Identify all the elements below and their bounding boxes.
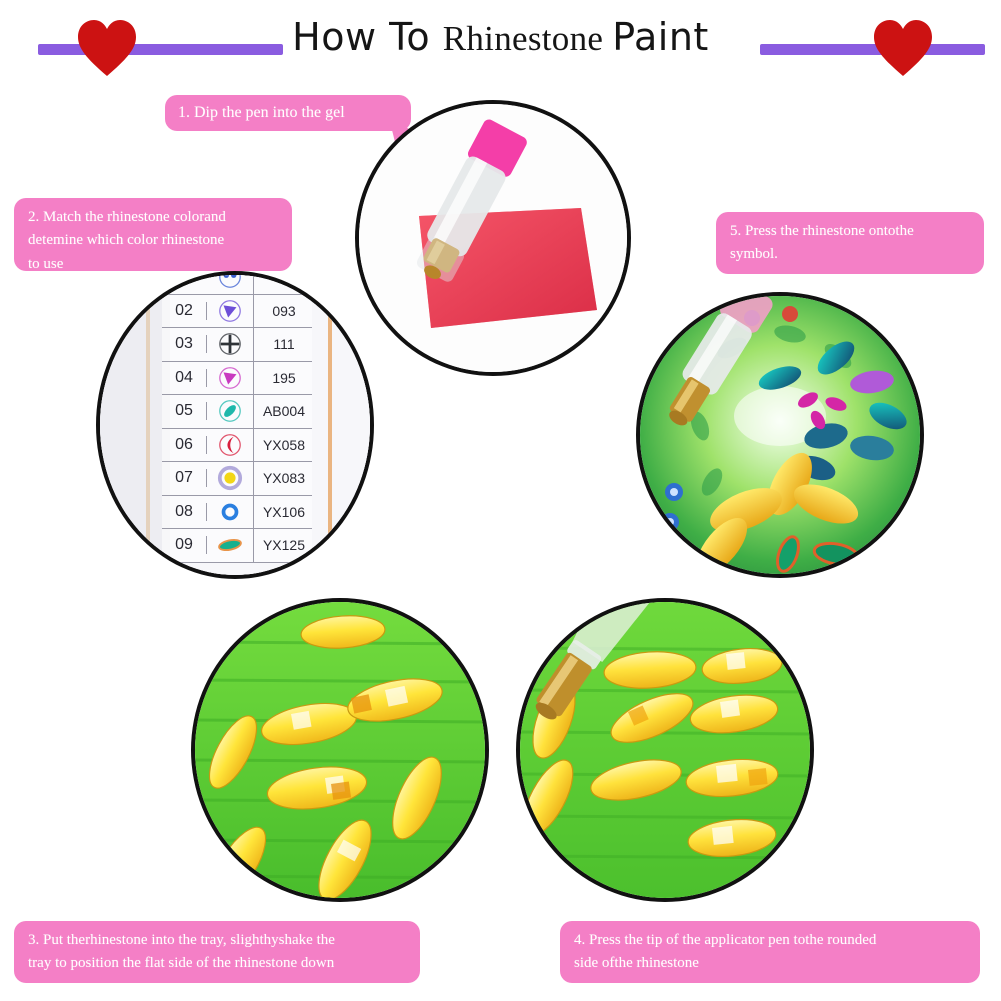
chart-row: 03111: [162, 328, 312, 362]
infographic-canvas: How To Rhinestone Paint 1. Dip the pen i…: [0, 0, 1001, 1001]
step-4-line-1: 4. Press the tip of the applicator pen t…: [574, 929, 980, 952]
step-3-label: 3. Put therhinestone into the tray, slig…: [14, 921, 420, 983]
left-arc-icon: [207, 429, 254, 462]
chart-row: 04195: [162, 362, 312, 396]
chart-row: 02093: [162, 295, 312, 329]
photo-pen-picking-rhinestone: [516, 598, 814, 902]
step-2-label: 2. Match the rhinestone colorand detemin…: [14, 198, 292, 271]
chart-row: 02x: [162, 271, 312, 295]
slash-oval-icon: [207, 395, 254, 428]
page-title-part-2: Rhinestone: [443, 19, 613, 58]
step-5-line-1: 5. Press the rhinestone ontothe: [730, 220, 984, 243]
step-4-line-2: side ofthe rhinestone: [574, 952, 980, 975]
chart-cell-code: 111: [254, 336, 312, 352]
page-title-part-1: How To: [292, 15, 443, 59]
step-1-line-1: 1. Dip the pen into the gel: [178, 101, 411, 126]
chart-table: 02x02093031110419505AB00406YX05807YX0830…: [162, 271, 312, 563]
photo-color-chart: 02x02093031110419505AB00406YX05807YX0830…: [96, 271, 374, 579]
page-title: How To Rhinestone Paint: [0, 18, 1001, 56]
chart-cell-number: 03: [162, 335, 207, 353]
filled-dot-icon: [207, 462, 254, 495]
photo-placing-on-canvas: [636, 292, 924, 578]
chart-cell-number: 06: [162, 436, 207, 454]
step-5-line-2: symbol.: [730, 243, 984, 266]
color-code-chart: 02x02093031110419505AB00406YX05807YX0830…: [100, 275, 370, 575]
step-1-label: 1. Dip the pen into the gel: [165, 95, 411, 131]
photo-rhinestones-in-tray: [191, 598, 489, 902]
triangle-corner-icon: [207, 362, 254, 395]
step-3-line-1: 3. Put therhinestone into the tray, slig…: [28, 929, 420, 952]
chart-cell-code: YX125: [254, 537, 312, 553]
chart-row: 08YX106: [162, 496, 312, 530]
chart-cell-code: YX058: [254, 437, 312, 453]
chart-binding-edge: [328, 275, 332, 575]
chart-cell-code: YX106: [254, 504, 312, 520]
ring-icon: [207, 496, 254, 529]
step-5-label: 5. Press the rhinestone ontothe symbol.: [716, 212, 984, 274]
chart-row: 05AB004: [162, 395, 312, 429]
step-2-line-2: detemine which color rhinestone: [28, 229, 292, 252]
photo-pen-dipping-gel: [355, 100, 631, 376]
chart-row: 07YX083: [162, 462, 312, 496]
step-2-line-1: 2. Match the rhinestone colorand: [28, 206, 292, 229]
chart-cell-number: 07: [162, 469, 207, 487]
double-dot-circle-icon: [207, 271, 254, 294]
chart-cell-number: 08: [162, 503, 207, 521]
plus-circle-icon: [207, 328, 254, 361]
chart-cell-number: 04: [162, 369, 207, 387]
page-title-part-3: Paint: [612, 15, 709, 59]
step-4-label: 4. Press the tip of the applicator pen t…: [560, 921, 980, 983]
chart-cell-code: AB004: [254, 403, 312, 419]
chart-cell-number: 05: [162, 402, 207, 420]
chart-margin-line: [146, 275, 150, 575]
chart-row: 06YX058: [162, 429, 312, 463]
triangle-corner-icon: [207, 295, 254, 328]
chart-cell-code: 093: [254, 303, 312, 319]
leaf-icon: [207, 529, 254, 562]
chart-cell-code: 195: [254, 370, 312, 386]
chart-row: 09YX125: [162, 529, 312, 563]
chart-cell-code: YX083: [254, 470, 312, 486]
chart-cell-number: 02: [162, 302, 207, 320]
chart-cell-number: 09: [162, 536, 207, 554]
step-3-line-2: tray to position the flat side of the rh…: [28, 952, 420, 975]
